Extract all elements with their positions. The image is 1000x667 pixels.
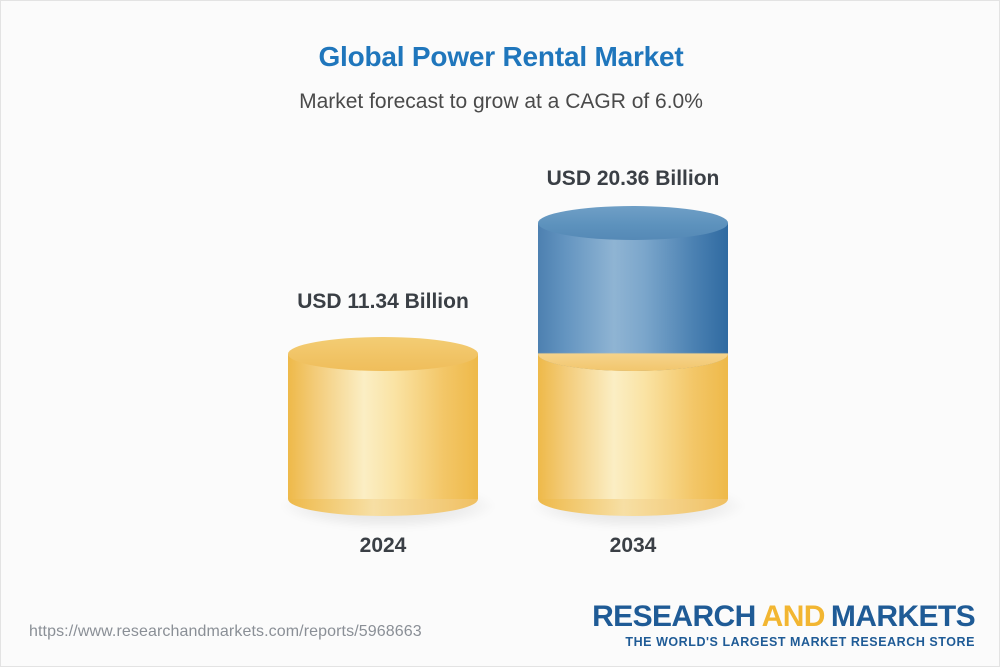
research-and-markets-logo[interactable]: RESEARCHANDMARKETS THE WORLD'S LARGEST M… [592, 601, 975, 649]
chart-card: Global Power Rental Market Market foreca… [0, 0, 1000, 667]
source-url[interactable]: https://www.researchandmarkets.com/repor… [29, 623, 422, 641]
bar-segment-joint-curve [538, 337, 728, 371]
bar-top-ellipse [538, 206, 728, 240]
chart-plot-area: USD 11.34 Billion USD 20.36 Billion 2024… [1, 1, 1000, 601]
bar-2024[interactable] [288, 337, 478, 517]
bar-value-label-2024: USD 11.34 Billion [283, 290, 483, 314]
logo-word-and: AND [762, 600, 825, 633]
bar-2034[interactable] [538, 206, 728, 517]
x-axis-label-2034: 2034 [533, 534, 733, 558]
bar-top-ellipse [288, 337, 478, 371]
logo-tagline: THE WORLD'S LARGEST MARKET RESEARCH STOR… [592, 635, 975, 649]
x-axis-label-2024: 2024 [283, 534, 483, 558]
logo-wordmark: RESEARCHANDMARKETS [592, 601, 975, 633]
logo-word-markets: MARKETS [831, 600, 975, 633]
logo-word-research: RESEARCH [592, 600, 756, 633]
bar-value-label-2034: USD 20.36 Billion [533, 167, 733, 191]
bar-segment-base [538, 354, 728, 499]
bar-body [288, 354, 478, 499]
bar-segment-growth [538, 223, 728, 354]
